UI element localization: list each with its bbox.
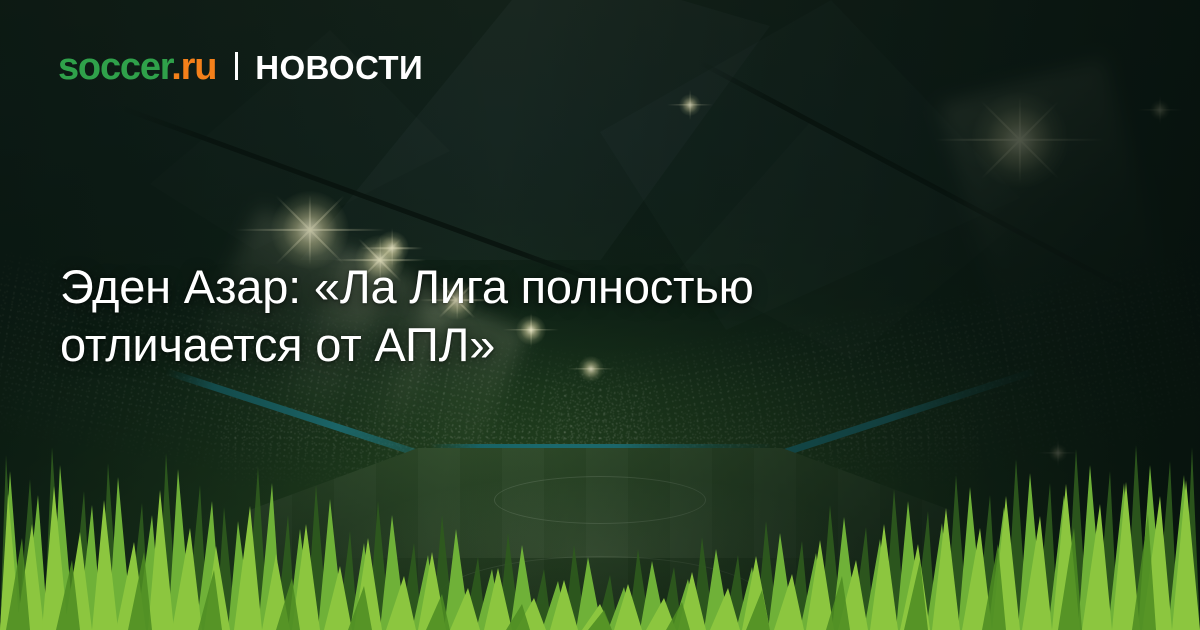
soccer-ru-logo[interactable]: soccer.ru [58,48,216,86]
site-header: soccer.ru НОВОСТИ [58,48,423,86]
logo-name-part: soccer [58,46,171,88]
logo-tld-part: .ru [171,46,216,88]
grass-blades-icon [0,480,1200,630]
news-share-card: soccer.ru НОВОСТИ Эден Азар: «Ла Лига по… [0,0,1200,630]
vertical-bar-separator-icon [235,52,238,80]
section-label-news: НОВОСТИ [255,51,423,84]
page-title: Эден Азар: «Ла Лига полностью отличается… [60,258,990,375]
